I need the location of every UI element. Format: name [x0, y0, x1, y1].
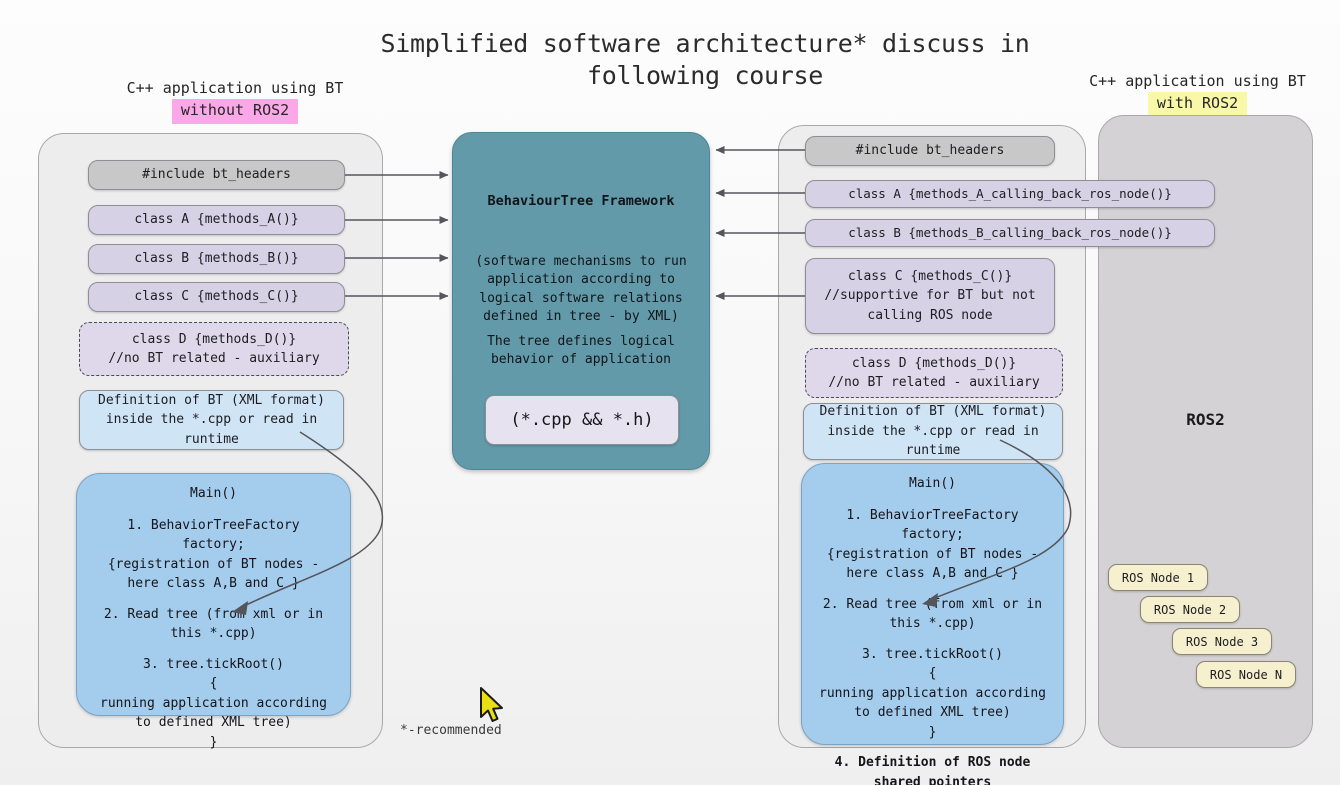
framework-description: (software mechanisms to run application … — [463, 253, 699, 327]
ros-node-2-box[interactable]: ROS Node 2 — [1140, 596, 1240, 623]
page-title-line1: Simplified software architecture* discus… — [355, 28, 1055, 60]
page-title: Simplified software architecture* discus… — [355, 28, 1055, 92]
left-class-b-box[interactable]: class B {methods_B()} — [88, 244, 345, 274]
left-main-step3: 3. tree.tickRoot() { running application… — [85, 655, 342, 753]
left-class-a-box[interactable]: class A {methods_A()} — [88, 205, 345, 235]
ros2-label: ROS2 — [1098, 410, 1313, 429]
right-column-header-line1: C++ application using BT — [1055, 71, 1340, 92]
left-main-step2: 2. Read tree (from xml or in this *.cpp) — [85, 605, 342, 644]
page-title-line2: following course — [355, 60, 1055, 92]
left-xml-definition-box[interactable]: Definition of BT (XML format) inside the… — [79, 390, 344, 450]
right-class-d-line2: //no BT related - auxiliary — [828, 373, 1039, 393]
right-column-header: C++ application using BT with ROS2 — [1055, 71, 1340, 117]
left-column-header-highlight: without ROS2 — [172, 99, 298, 123]
left-column-header: C++ application using BT without ROS2 — [60, 78, 410, 124]
right-class-a-box[interactable]: class A {methods_A_calling_back_ros_node… — [805, 180, 1215, 208]
right-main-step2: 2. Read tree (from xml or in this *.cpp) — [810, 595, 1055, 634]
right-class-c-box[interactable]: class C {methods_C()} //supportive for B… — [805, 258, 1055, 334]
right-class-b-box[interactable]: class B {methods_B_calling_back_ros_node… — [805, 219, 1215, 247]
right-column-header-highlight: with ROS2 — [1148, 92, 1247, 116]
right-main-block[interactable]: Main() 1. BehaviorTreeFactory factory; {… — [801, 463, 1064, 745]
diagram-canvas: Simplified software architecture* discus… — [0, 0, 1340, 785]
mouse-cursor — [478, 686, 508, 726]
framework-title: BehaviourTree Framework — [453, 193, 709, 209]
ros-node-n-box[interactable]: ROS Node N — [1196, 661, 1296, 688]
ros-node-3-box[interactable]: ROS Node 3 — [1172, 628, 1272, 655]
left-main-step1: 1. BehaviorTreeFactory factory; {registr… — [85, 516, 342, 594]
right-main-step4: 4. Definition of ROS node shared pointer… — [810, 753, 1055, 785]
right-main-step1: 1. BehaviorTreeFactory factory; {registr… — [810, 506, 1055, 584]
framework-files-chip: (*.cpp && *.h) — [485, 395, 679, 445]
left-column-header-line1: C++ application using BT — [60, 78, 410, 99]
right-xml-definition-box[interactable]: Definition of BT (XML format) inside the… — [803, 403, 1063, 460]
right-main-title: Main() — [810, 474, 1055, 494]
right-include-box[interactable]: #include bt_headers — [805, 136, 1055, 166]
left-class-d-line1: class D {methods_D()} — [132, 330, 296, 350]
left-class-c-box[interactable]: class C {methods_C()} — [88, 282, 345, 312]
left-class-d-line2: //no BT related - auxiliary — [108, 349, 319, 369]
right-main-step3: 3. tree.tickRoot() { running application… — [810, 645, 1055, 743]
behaviourtree-framework-box[interactable]: BehaviourTree Framework (software mechan… — [452, 132, 710, 470]
left-include-box[interactable]: #include bt_headers — [88, 160, 345, 190]
left-main-block[interactable]: Main() 1. BehaviorTreeFactory factory; {… — [76, 473, 351, 716]
right-class-d-line1: class D {methods_D()} — [852, 354, 1016, 374]
left-main-title: Main() — [85, 484, 342, 504]
left-class-d-box[interactable]: class D {methods_D()} //no BT related - … — [79, 322, 349, 376]
framework-description-2: The tree defines logical behavior of app… — [463, 333, 699, 370]
ros-node-1-box[interactable]: ROS Node 1 — [1108, 564, 1208, 591]
right-class-d-box[interactable]: class D {methods_D()} //no BT related - … — [805, 348, 1063, 398]
cursor-arrow-shape — [481, 688, 502, 721]
